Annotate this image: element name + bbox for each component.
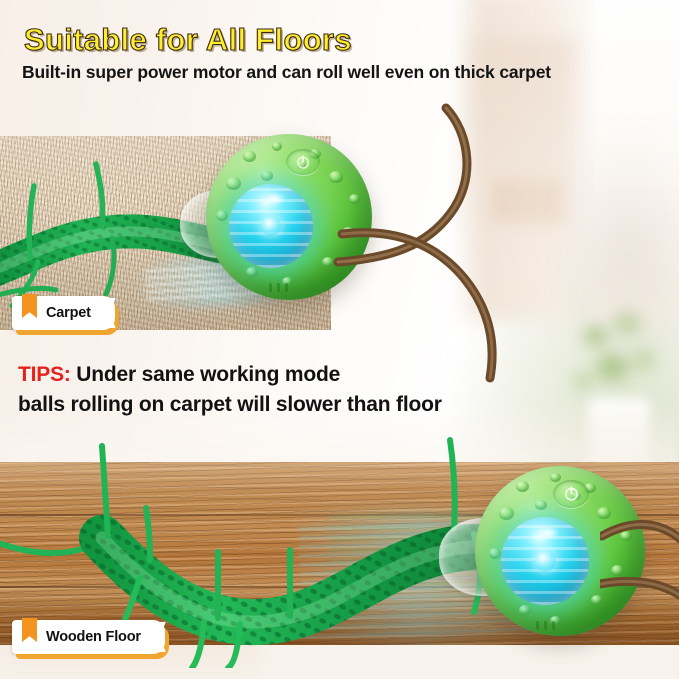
badge-carpet: Carpet: [12, 296, 115, 330]
badge-notch: [150, 622, 166, 652]
page-title: Suitable for All Floors: [24, 22, 352, 58]
tips-keyword: TIPS:: [18, 363, 71, 386]
ball-vents: [269, 283, 288, 292]
bookmark-icon: [22, 294, 37, 318]
led-highlight: [536, 526, 561, 540]
tips-line-1-text: Under same working mode: [71, 363, 340, 386]
page-subtitle: Built-in super power motor and can roll …: [22, 62, 551, 83]
tips-line-1: TIPS: Under same working mode: [18, 360, 638, 390]
ball-vents: [536, 621, 555, 630]
tips-line-2: balls rolling on carpet will slower than…: [18, 390, 638, 420]
product-ball-wood: [475, 466, 645, 636]
tips-block: TIPS: Under same working mode balls roll…: [18, 360, 638, 420]
bookmark-icon: [22, 618, 37, 642]
product-ball-carpet: [206, 134, 372, 300]
power-button[interactable]: [286, 149, 320, 175]
right-vignette: [549, 120, 679, 380]
badge-notch: [100, 298, 116, 328]
led-window: [229, 184, 313, 268]
badge-carpet-label: Carpet: [46, 305, 91, 321]
power-icon: [563, 485, 580, 502]
product-feature-image: Suitable for All Floors Built-in super p…: [0, 0, 679, 679]
power-button[interactable]: [553, 480, 589, 508]
badge-wooden-floor: Wooden Floor: [12, 620, 165, 654]
led-window: [501, 517, 589, 605]
led-hub: [534, 550, 556, 572]
led-highlight: [263, 192, 287, 205]
badge-wooden-floor-label: Wooden Floor: [46, 629, 141, 645]
led-hub: [261, 216, 281, 236]
power-icon: [295, 154, 311, 170]
